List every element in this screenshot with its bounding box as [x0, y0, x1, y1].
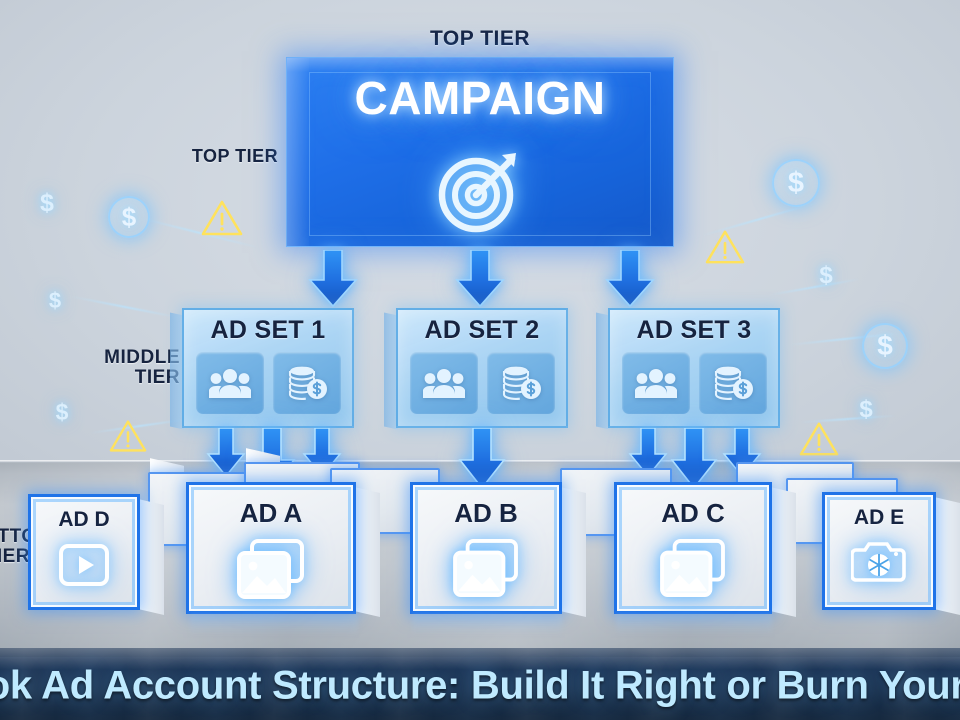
campaign-bevel-top	[287, 58, 673, 72]
ad-reflection	[190, 614, 358, 636]
warning-triangle-icon	[108, 418, 148, 454]
budget-coins-dollar-icon	[699, 352, 767, 414]
arrow-campaign-to-adset-2	[455, 250, 505, 308]
bottom-banner: Facebook Ad Account Structure: Build It …	[0, 648, 960, 720]
image-stack-icon	[236, 538, 306, 600]
ad-title: AD A	[186, 498, 356, 529]
ad-box-side	[354, 487, 380, 617]
adset-node-2[interactable]: AD SET 2	[396, 308, 568, 428]
ad-reflection	[616, 614, 772, 636]
warning-triangle-icon	[200, 198, 244, 238]
ad-box-side	[138, 499, 164, 615]
adset-icon-row	[616, 352, 772, 414]
ad-box-side	[560, 487, 586, 617]
arrow-adset2-to-ad-b	[458, 428, 506, 490]
diagram-canvas: $ $ $ $ $ $ $ $	[0, 0, 960, 720]
dollar-coin-icon: $	[48, 398, 76, 426]
label-bottom-tier: BOTTOM TIER	[0, 527, 30, 567]
ad-node-a[interactable]: AD A	[186, 482, 386, 620]
adset-node-1[interactable]: AD SET 1	[182, 308, 354, 428]
adset-title: AD SET 3	[608, 316, 780, 345]
dollar-coin-icon: $	[772, 159, 820, 207]
adset-icon-row	[190, 352, 346, 414]
audience-people-icon	[196, 352, 264, 414]
ad-title: AD C	[614, 498, 772, 529]
banner-headline: Facebook Ad Account Structure: Build It …	[0, 663, 960, 708]
ad-reflection	[412, 614, 562, 636]
ad-node-e[interactable]: AD E	[822, 492, 960, 618]
dollar-coin-icon: $	[32, 188, 62, 218]
warning-triangle-icon	[704, 228, 746, 266]
label-middle-tier: MIDDLE TIER	[88, 348, 180, 388]
dollar-coin-icon: $	[42, 288, 68, 314]
camera-aperture-icon	[851, 538, 907, 586]
ad-box-side	[770, 487, 796, 617]
warning-triangle-icon	[798, 420, 840, 458]
ad-title: AD B	[410, 498, 562, 529]
dollar-coin-icon: $	[862, 323, 908, 369]
campaign-node[interactable]: CAMPAIGN	[286, 57, 674, 247]
ad-node-d[interactable]: AD D	[28, 494, 166, 618]
audience-people-icon	[410, 352, 478, 414]
label-top-tier-center: TOP TIER	[400, 28, 560, 50]
dollar-coin-icon: $	[812, 262, 840, 290]
ad-title: AD E	[822, 506, 936, 530]
target-bullseye-arrow-icon	[432, 141, 528, 237]
dollar-coin-icon: $	[108, 196, 150, 238]
arrow-adset3-to-ad-c-center	[670, 428, 718, 490]
ad-node-c[interactable]: AD C	[614, 482, 800, 620]
dollar-coin-icon: $	[852, 396, 880, 424]
video-play-icon	[58, 542, 110, 588]
adset-node-3[interactable]: AD SET 3	[608, 308, 780, 428]
coin-trail	[71, 296, 179, 319]
audience-people-icon	[622, 352, 690, 414]
arrow-adset1-to-ad-a	[206, 428, 246, 478]
adset-icon-row	[404, 352, 560, 414]
arrow-campaign-to-adset-3	[605, 250, 655, 308]
image-stack-icon	[452, 538, 520, 598]
arrow-campaign-to-adset-1	[308, 250, 358, 308]
label-top-tier-left: TOP TIER	[175, 147, 295, 166]
campaign-title: CAMPAIGN	[286, 71, 674, 125]
adset-title: AD SET 2	[396, 316, 568, 345]
ad-title: AD D	[28, 508, 140, 532]
ad-box-side	[934, 497, 960, 615]
ad-node-b[interactable]: AD B	[410, 482, 588, 620]
image-stack-icon	[659, 538, 727, 598]
budget-coins-dollar-icon	[273, 352, 341, 414]
adset-title: AD SET 1	[182, 316, 354, 345]
budget-coins-dollar-icon	[487, 352, 555, 414]
